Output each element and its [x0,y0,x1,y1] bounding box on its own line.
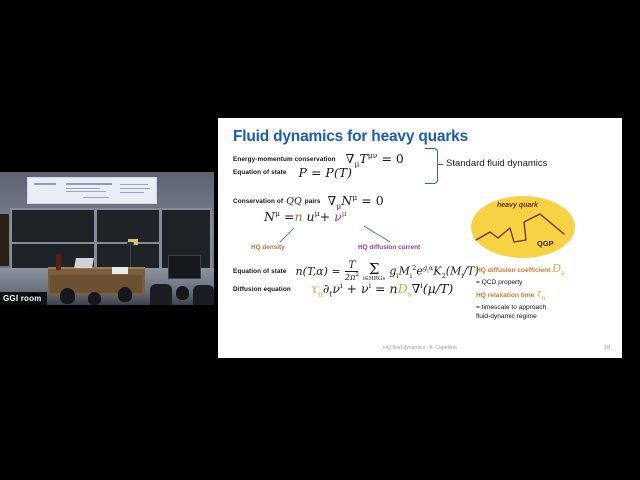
camera-source-label: GGI room [0,292,47,305]
equation-current-decomposition: Nμ =n uμ+ νμ [264,209,347,224]
qgp-label: QGP [537,239,554,248]
laptop [74,258,94,268]
equation-label: Equation of state [233,169,287,176]
papers [112,267,128,274]
tag-hq-density: HQ density [251,244,285,251]
slide-page-number: 10 [604,345,610,351]
equation-label: Energy-momentum conservation [233,156,336,163]
grouping-bracket [425,148,438,184]
annotation-header: HQ relaxation time [476,292,534,299]
equation-row-diffusion: Diffusion equation τn∂tνi + νi = nDs∇i(μ… [233,281,453,299]
blackboard-panel [10,208,96,244]
microphone-stand [130,244,131,268]
equation-row-eos-1: Equation of state P = P(T) [233,165,352,180]
annotation-body-line-1: = timescale to approach [476,303,546,312]
equation-label-suffix: pairs [305,198,321,205]
blackboard-panel [95,242,161,270]
equation-eos-2: n(T,α) = T 2π2 Σ i∈HRGs giMi2egiαK2(Mi/T… [296,261,479,283]
bottle [56,254,61,270]
equation-label: Conservation of [233,198,283,205]
annotation-symbol: τn [536,289,546,300]
microphone-icon [127,242,134,245]
equation-label: Diffusion equation [233,286,291,293]
standard-fluid-dynamics-note: Standard fluid dynamics [446,158,547,169]
equation-row-current-decomposition: Nμ =n uμ+ νμ [264,208,347,226]
slide-footer-text: HQ fluid dynamics - F. Capellino [218,345,622,351]
heavy-quark-trajectory [468,204,580,264]
equation-label: Equation of state [233,268,287,275]
equation-eos-1: P = P(T) [299,165,352,180]
annotation-symbol: Ds [552,262,564,275]
monitor [168,255,201,279]
room-door [0,214,9,266]
slide-title: Fluid dynamics for heavy quarks [233,128,610,146]
bracket-tick [437,164,443,165]
tag-hq-diffusion-current: HQ diffusion current [358,244,420,251]
video-player-stage: GGI room Fluid dynamics for heavy quarks… [0,0,640,480]
projector-screen [27,177,157,204]
qq-symbol: QQ [286,196,302,207]
annotation-body-line-2: fluid-dynamic regime [476,312,546,321]
heavy-quark-label: heavy quark [497,202,538,209]
equation-energy-momentum: ∇μTμν = 0 [346,151,404,169]
room-camera-feed[interactable]: GGI room [0,172,214,305]
annotation-relaxation-time: HQ relaxation time τn = timescale to app… [476,290,546,321]
presentation-slide[interactable]: Fluid dynamics for heavy quarks Energy-m… [218,118,622,358]
annotation-diffusion-coefficient: HQ diffusion coefficient Ds = QCD proper… [476,264,565,287]
equation-diffusion: τn∂tνi + νi = nDs∇i(μ/T) [311,281,453,299]
equation-row-eos-2: Equation of state n(T,α) = T 2π2 Σ i∈HRG… [233,261,479,283]
annotation-body: = QCD property [476,278,565,287]
annotation-header: HQ diffusion coefficient [476,267,550,274]
